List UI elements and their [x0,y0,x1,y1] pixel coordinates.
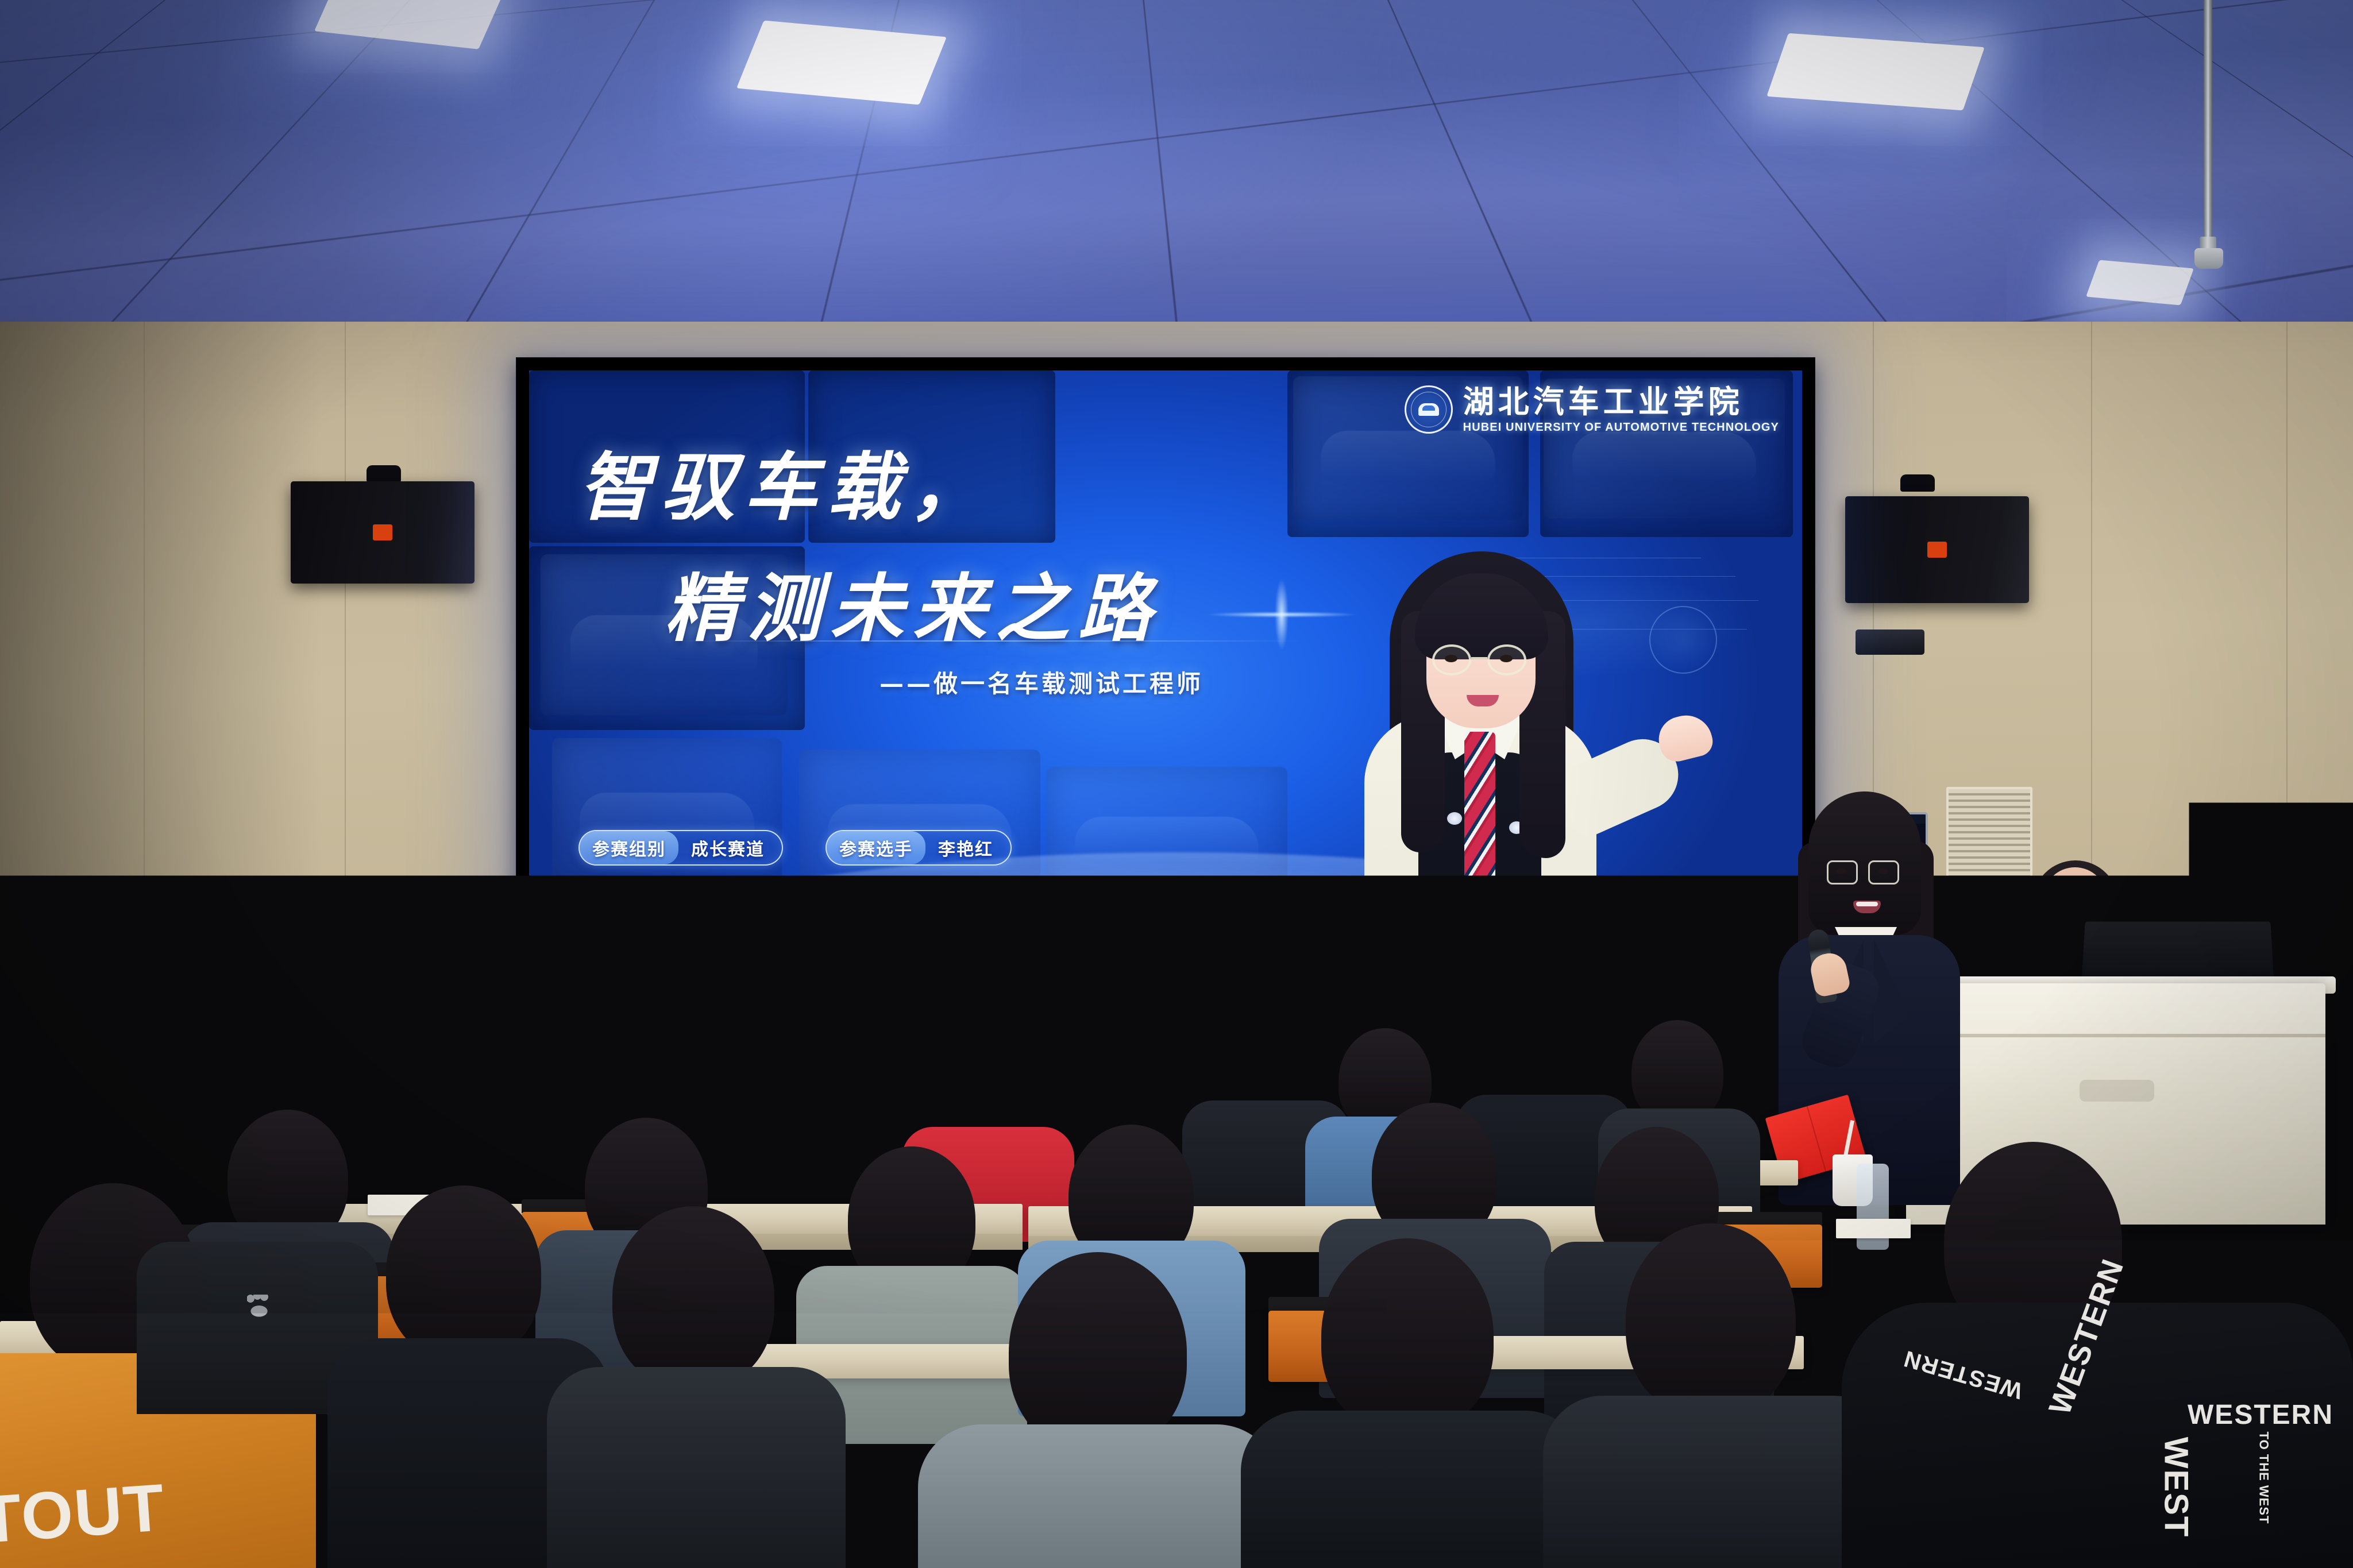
badge-value: 汽车工程学院 [678,885,819,918]
audience-head [1321,1238,1494,1434]
subtitle-divider [673,640,1305,642]
ceiling-camera-icon [2194,248,2223,269]
presenter-speaker [1749,791,1978,1205]
title-line-2: 精测未来之路 [665,549,1343,655]
jacket-text: TOUT [0,1469,168,1558]
badge-group: 参赛组别 成长赛道 [578,830,783,866]
audience-torso [547,1367,846,1568]
badge-key: 所在学院 [580,885,678,918]
badge-row: 参赛组别 成长赛道 参赛选手 李艳红 [578,830,1199,866]
audience-head [593,1009,685,1113]
university-logo: 湖北汽车工业学院 HUBEI UNIVERSITY OF AUTOMOTIVE … [1405,385,1779,434]
led-display-screen: 湖北汽车工业学院 HUBEI UNIVERSITY OF AUTOMOTIVE … [516,357,1815,1021]
slide-content: 湖北汽车工业学院 HUBEI UNIVERSITY OF AUTOMOTIVE … [529,370,1802,1007]
slide-presenter-photo [1314,542,1727,1007]
ceiling [0,0,2353,368]
speaker-logo-icon [373,524,392,540]
audience-head [1626,1223,1796,1416]
badge-value: 车服232 [962,885,1069,918]
speaker-mount [367,465,401,482]
paper-sheet [1836,1219,1911,1238]
university-name-en: HUBEI UNIVERSITY OF AUTOMOTIVE TECHNOLOG… [1463,422,1779,433]
paw-print-icon [246,1295,272,1318]
wall-speaker-right [1845,496,2029,603]
badge-key: 参赛组别 [580,831,678,864]
audience-torso [33,1040,200,1172]
projector-mount-pole-icon [2204,0,2212,247]
badge-contestant: 参赛选手 李艳红 [826,830,1012,866]
audience-torso [1543,1396,1893,1568]
wall-speaker-left [291,481,475,584]
badge-class: 参赛班级 车服232 [862,884,1070,920]
university-name-cn: 湖北汽车工业学院 [1463,387,1779,418]
lecture-hall-scene: 湖北汽车工业学院 HUBEI UNIVERSITY OF AUTOMOTIVE … [0,0,2353,1568]
speaker-logo-icon [1927,542,1947,558]
audience-torso [1241,1411,1586,1568]
audience-head [386,1185,541,1361]
wall-projector-device [1856,629,1924,655]
slide-title: 智驭车载， 精测未来之路 [578,428,1343,655]
audience-torso [918,1424,1280,1568]
badge-row: 所在学院 汽车工程学院 参赛班级 车服232 [578,884,1199,920]
jacket-text: WESTERN [2188,1399,2333,1431]
university-crest-icon [1405,385,1453,434]
badge-college: 所在学院 汽车工程学院 [578,884,820,920]
jacket-text: WEST [2157,1437,2195,1538]
slide-subtitle: ——做一名车载测试工程师 [880,665,1203,700]
speaker-mount [1900,474,1935,492]
ceiling-light-tint [0,0,2353,368]
audience-head [1009,1252,1187,1453]
jacket-text: TO THE WEST [2256,1432,2271,1524]
badge-value: 李艳红 [925,831,1010,864]
badge-key: 参赛班级 [863,885,962,918]
badge-key: 参赛选手 [827,831,925,864]
badge-value: 成长赛道 [678,831,782,864]
info-badges: 参赛组别 成长赛道 参赛选手 李艳红 所在学院 汽车工程学院 参赛班级 [578,830,1199,938]
audience-head [612,1206,774,1389]
crest-car-icon [1418,403,1439,416]
podium-nameplate [2080,1080,2154,1102]
title-line-1: 智驭车载， [578,428,1343,534]
